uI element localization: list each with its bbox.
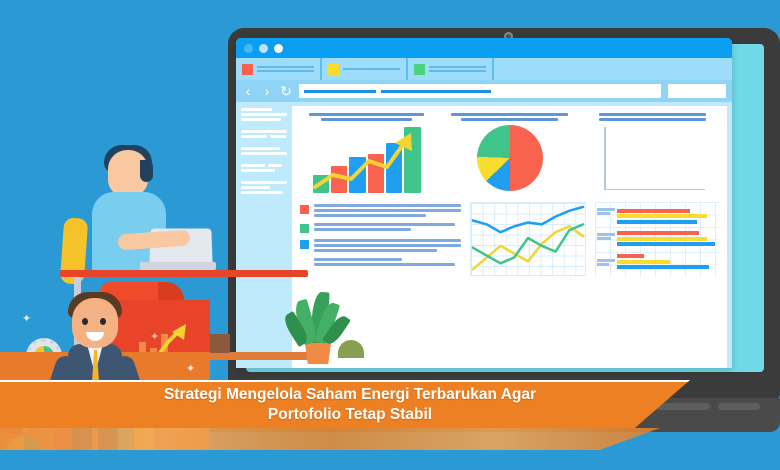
tab-favicon-icon <box>328 64 339 75</box>
chart-card-pie <box>443 113 577 195</box>
browser-titlebar <box>236 38 732 58</box>
row-label <box>597 233 615 240</box>
line-series-green <box>473 224 583 263</box>
browser-navbar: ‹ › ↻ <box>236 80 732 102</box>
banner-title-line2: Portofolio Tetap Stabil <box>268 406 432 423</box>
trend-arrow-icon <box>313 125 421 193</box>
sidebar-block <box>241 130 287 138</box>
y-axis <box>604 127 606 189</box>
browser-tab-two[interactable] <box>322 58 408 80</box>
sidebar-block <box>241 181 287 194</box>
list-marker-icon <box>300 205 309 214</box>
row-label <box>597 208 615 215</box>
charts-row-bottom <box>300 202 719 276</box>
list-marker-icon <box>300 240 309 249</box>
window-minimize-icon[interactable] <box>259 44 268 53</box>
bottom-background-strip <box>0 450 780 470</box>
browser-tab-one[interactable] <box>236 58 322 80</box>
tab-title-placeholder <box>257 66 314 72</box>
pie-chart <box>477 125 543 191</box>
desk-surface <box>60 270 308 277</box>
chart-heading-placeholder <box>300 113 434 121</box>
dashboard-page <box>292 106 727 368</box>
businessman-eye-right <box>100 318 106 325</box>
browser-extension-field[interactable] <box>668 84 726 98</box>
new-tab-area[interactable] <box>494 58 732 80</box>
businessman-eye-left <box>82 318 88 325</box>
browser-tabstrip <box>236 58 732 80</box>
x-axis <box>604 189 705 191</box>
illustration-canvas: ‹ › ↻ <box>0 0 780 470</box>
person-hair-back <box>140 160 153 182</box>
chart-heading-placeholder <box>443 113 577 121</box>
list-item[interactable] <box>300 258 461 266</box>
list-item[interactable] <box>300 239 461 252</box>
list-marker-icon <box>300 224 309 233</box>
banner-title: Strategi Mengelola Saham Energi Terbaruk… <box>130 385 570 426</box>
ascending-bar-chart <box>313 125 421 193</box>
grouped-bar-chart <box>599 125 705 195</box>
window-maximize-icon[interactable] <box>274 44 283 53</box>
banner-texture-strip <box>0 428 660 452</box>
dashboard-list <box>300 202 461 276</box>
title-banner: Strategi Mengelola Saham Energi Terbaruk… <box>0 380 690 428</box>
sidebar-block <box>241 147 287 155</box>
sidebar-block <box>241 164 287 172</box>
banner-title-line1: Strategi Mengelola Saham Energi Terbaruk… <box>164 386 536 403</box>
chart-card-ascending-bar <box>300 113 434 195</box>
horizontal-bar-chart <box>595 202 719 276</box>
shelf-box <box>208 334 230 353</box>
multi-line-chart <box>470 202 586 276</box>
list-item[interactable] <box>300 204 461 217</box>
tab-title-placeholder <box>429 66 486 72</box>
page-sidebar <box>236 102 292 368</box>
list-item[interactable] <box>300 223 461 233</box>
address-input[interactable] <box>299 84 661 98</box>
chart-heading-placeholder <box>585 113 719 121</box>
tab-favicon-icon <box>414 64 425 75</box>
sidebar-block <box>241 108 287 121</box>
row-label <box>597 259 615 266</box>
browser-tab-three[interactable] <box>408 58 494 80</box>
window-close-icon[interactable] <box>244 44 253 53</box>
tab-favicon-icon <box>242 64 253 75</box>
reload-icon[interactable]: ↻ <box>280 84 292 98</box>
forward-icon[interactable]: › <box>261 84 273 98</box>
back-icon[interactable]: ‹ <box>242 84 254 98</box>
chart-card-grouped-bar <box>585 113 719 195</box>
charts-row-top <box>300 113 719 195</box>
tab-title-placeholder <box>343 68 400 70</box>
laptop-vent-right <box>718 403 760 410</box>
desk-laptop-keyboard <box>140 262 216 270</box>
